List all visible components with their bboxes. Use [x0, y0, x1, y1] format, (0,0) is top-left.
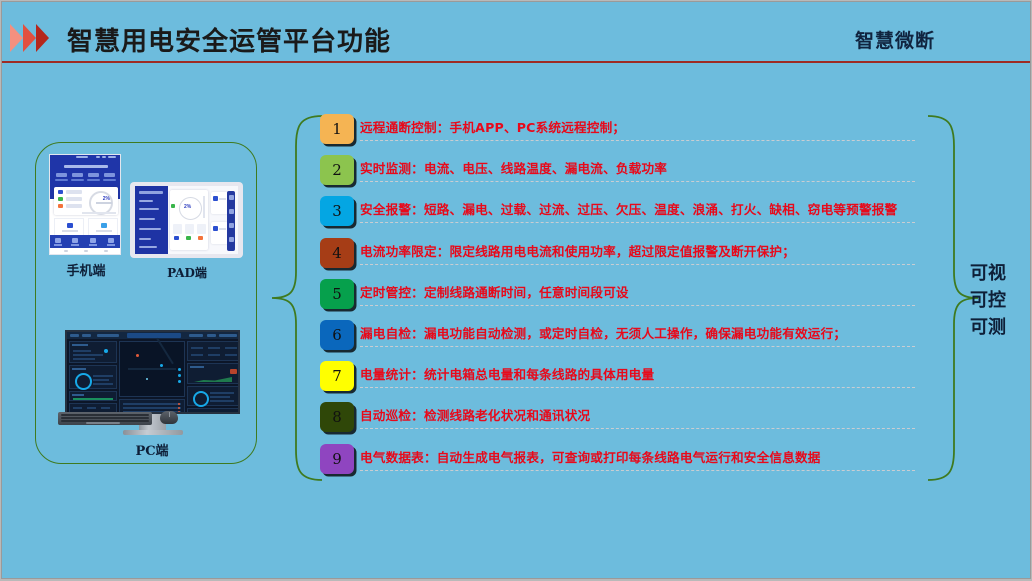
feature-badge-2: 2: [320, 155, 354, 185]
feature-divider-2: [360, 181, 915, 182]
feature-text-9: 电气数据表：自动生成电气报表，可查询或打印每条线路电气运行和安全信息数据: [360, 447, 821, 466]
keyboard-icon: [58, 412, 152, 425]
feature-text-8: 自动巡检：检测线路老化状况和通讯状况: [360, 405, 590, 424]
feature-badge-5: 5: [320, 279, 354, 309]
feature-divider-8: [360, 428, 915, 429]
feature-divider-9: [360, 470, 915, 471]
feature-item-7[interactable]: 7 电量统计：统计电箱总电量和每条线路的具体用电量: [320, 359, 920, 400]
feature-divider-6: [360, 346, 915, 347]
feature-badge-8: 8: [320, 402, 354, 432]
feature-badge-4: 4: [320, 238, 354, 268]
mouse-icon: [160, 411, 178, 424]
double-chevron-right-icon: [10, 24, 62, 52]
feature-text-5: 定时管控：定制线路通断时间，任意时间段可设: [360, 282, 629, 301]
feature-item-5[interactable]: 5 定时管控：定制线路通断时间，任意时间段可设: [320, 277, 920, 318]
feature-divider-1: [360, 140, 915, 141]
feature-divider-4: [360, 264, 915, 265]
device-label-phone: 手机端: [47, 260, 125, 279]
feature-divider-5: [360, 305, 915, 306]
outcome-labels: 可视 可控 可测: [970, 260, 1006, 341]
outcome-label-3: 可测: [970, 314, 1006, 341]
tablet-icon: 2%: [130, 182, 243, 258]
feature-item-9[interactable]: 9 电气数据表：自动生成电气报表，可查询或打印每条线路电气运行和安全信息数据: [320, 442, 920, 483]
feature-text-3: 安全报警：短路、漏电、过载、过流、过压、欠压、温度、浪涌、打火、缺相、窃电等预警…: [360, 199, 897, 218]
left-brace: [270, 112, 324, 484]
device-label-pad: PAD端: [132, 264, 242, 281]
page-title: 智慧用电安全运管平台功能: [67, 21, 391, 58]
outcome-label-1: 可视: [970, 260, 1006, 287]
feature-item-8[interactable]: 8 自动巡检：检测线路老化状况和通讯状况: [320, 400, 920, 441]
smartphone-icon: 2%: [49, 154, 121, 255]
feature-badge-6: 6: [320, 320, 354, 350]
feature-text-1: 远程通断控制：手机APP、PC系统远程控制；: [360, 117, 625, 136]
header-divider: [2, 61, 1030, 63]
feature-text-6: 漏电自检：漏电功能自动检测，或定时自检，无须人工操作，确保漏电功能有效运行；: [360, 323, 846, 342]
slide-header: 智慧用电安全运管平台功能 智慧微断: [2, 2, 1030, 62]
feature-item-4[interactable]: 4 电流功率限定：限定线路用电电流和使用功率，超过限定值报警及断开保护；: [320, 236, 920, 277]
device-label-pc: PC端: [77, 440, 227, 459]
feature-badge-9: 9: [320, 444, 354, 474]
feature-badge-3: 3: [320, 196, 354, 226]
feature-badge-1: 1: [320, 114, 354, 144]
feature-divider-3: [360, 222, 915, 223]
outcome-label-2: 可控: [970, 287, 1006, 314]
feature-badge-7: 7: [320, 361, 354, 391]
feature-item-1[interactable]: 1 远程通断控制：手机APP、PC系统远程控制；: [320, 112, 920, 153]
feature-item-6[interactable]: 6 漏电自检：漏电功能自动检测，或定时自检，无须人工操作，确保漏电功能有效运行；: [320, 318, 920, 359]
feature-text-4: 电流功率限定：限定线路用电电流和使用功率，超过限定值报警及断开保护；: [360, 241, 795, 260]
feature-list: 1 远程通断控制：手机APP、PC系统远程控制； 2 实时监测：电流、电压、线路…: [320, 112, 920, 483]
feature-item-2[interactable]: 2 实时监测：电流、电压、线路温度、漏电流、负载功率: [320, 153, 920, 194]
slide-canvas: 智慧用电安全运管平台功能 智慧微断: [1, 1, 1031, 579]
feature-text-7: 电量统计：统计电箱总电量和每条线路的具体用电量: [360, 364, 654, 383]
feature-divider-7: [360, 387, 915, 388]
brand-title: 智慧微断: [855, 26, 935, 53]
feature-item-3[interactable]: 3 安全报警：短路、漏电、过载、过流、过压、欠压、温度、浪涌、打火、缺相、窃电等…: [320, 194, 920, 235]
feature-text-2: 实时监测：电流、电压、线路温度、漏电流、负载功率: [360, 158, 667, 177]
